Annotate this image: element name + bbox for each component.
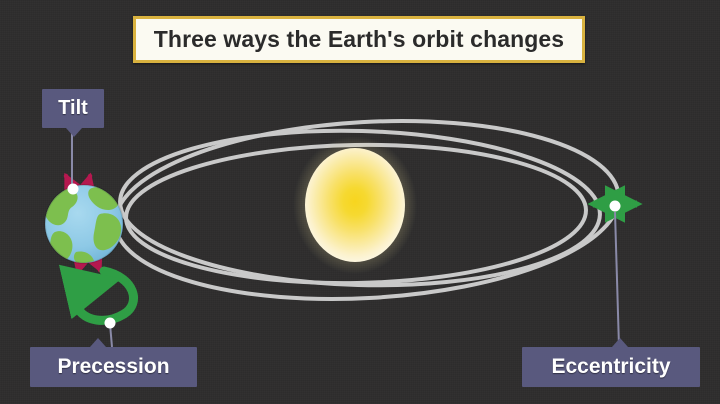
callout-label-tilt-text: Tilt bbox=[58, 97, 88, 120]
title-banner: Three ways the Earth's orbit changes bbox=[133, 16, 585, 63]
callout-label-eccentricity-text: Eccentricity bbox=[551, 355, 670, 379]
callout-tail-icon bbox=[90, 338, 106, 347]
callout-tail-icon bbox=[66, 128, 82, 137]
callout-tail-icon bbox=[612, 338, 628, 347]
precession-wobble-arrow bbox=[77, 271, 134, 320]
anchor-dot-precession bbox=[105, 318, 116, 329]
anchor-dot-eccentricity bbox=[610, 201, 621, 212]
sun-disc bbox=[305, 148, 405, 262]
callout-label-precession-text: Precession bbox=[57, 355, 169, 379]
callout-label-tilt[interactable]: Tilt bbox=[42, 89, 104, 128]
anchor-dot-tilt bbox=[68, 184, 79, 195]
illustration-canvas: Three ways the Earth's orbit changes Til… bbox=[0, 0, 720, 404]
leader-line-eccentricity bbox=[615, 212, 619, 347]
sun bbox=[293, 136, 417, 274]
page-title: Three ways the Earth's orbit changes bbox=[154, 26, 564, 53]
callout-label-eccentricity[interactable]: Eccentricity bbox=[522, 347, 700, 387]
callout-label-precession[interactable]: Precession bbox=[30, 347, 197, 387]
earth bbox=[45, 175, 123, 264]
precession-curve bbox=[77, 271, 134, 320]
